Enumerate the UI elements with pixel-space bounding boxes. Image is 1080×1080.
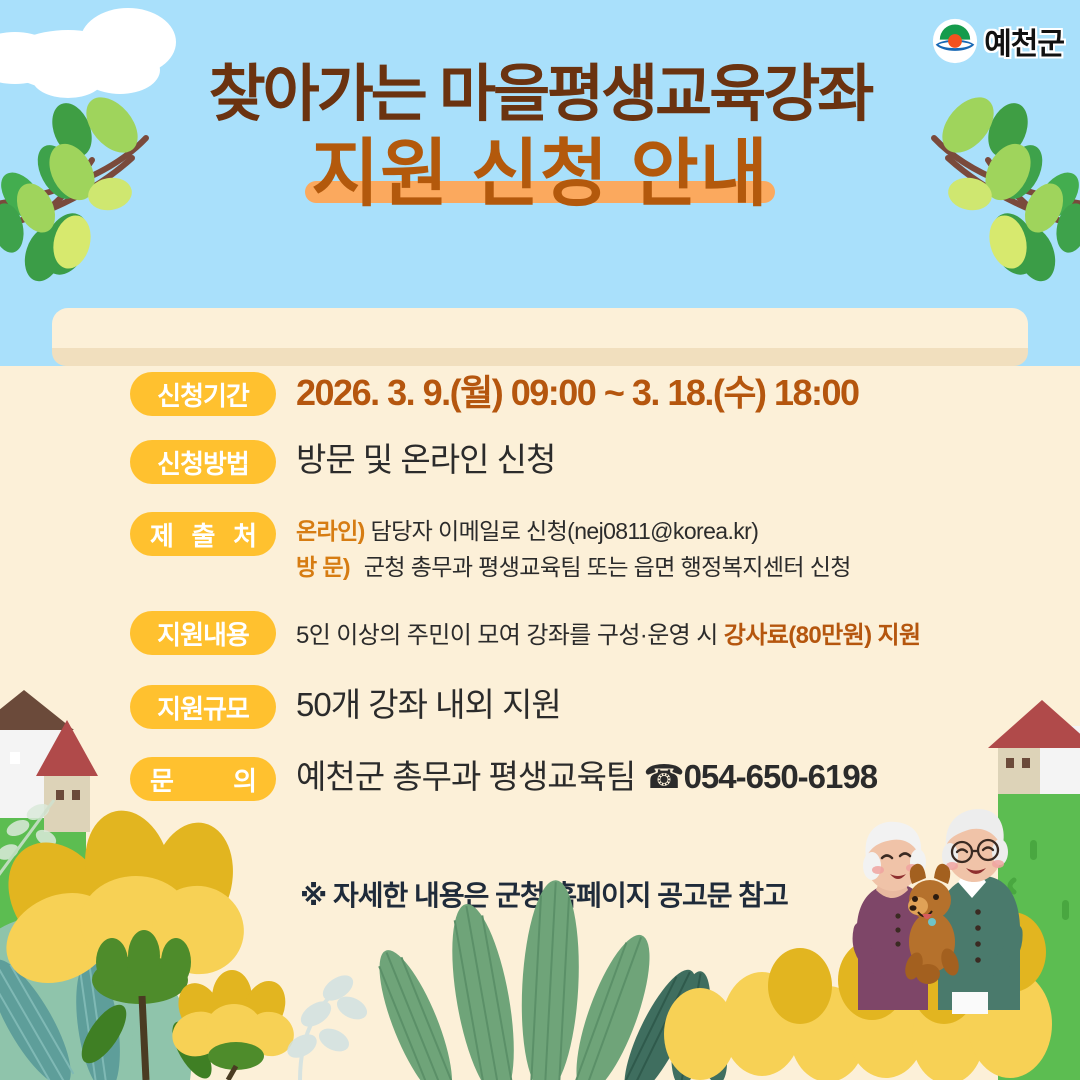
contact-phone-number: 054-650-6198 (684, 758, 878, 795)
title-line-1: 찾아가는 마을평생교육강좌 (0, 62, 1080, 127)
row-value-support-details: 5인 이상의 주민이 모여 강좌를 구성·운영 시 강사료(80만원) 지원 (296, 617, 1080, 654)
content-panel-top (52, 308, 1028, 348)
submission-online-prefix: 온라인) (296, 514, 365, 550)
submission-visit-text: 군청 총무과 평생교육팀 또는 읍면 행정복지센터 신청 (364, 554, 851, 580)
poster-root: 예천군 찾아가는 마을평생교육강좌 지원 신청 안내 신청기간 2026. 3.… (0, 0, 1080, 1080)
row-value-support-scale: 50개 강좌 내외 지원 (296, 685, 1080, 725)
label-char-2: 의 (233, 761, 256, 798)
poster-title-block: 찾아가는 마을평생교육강좌 지원 신청 안내 (0, 62, 1080, 211)
row-label-support-details: 지원내용 (130, 611, 276, 655)
row-label-submission-place: 제 출 처 (130, 512, 276, 556)
submission-visit-prefix: 방 문) (296, 550, 358, 586)
yecheon-county-emblem-icon (932, 18, 978, 64)
row-value-submission-visit: 방 문) 군청 총무과 평생교육팀 또는 읍면 행정복지센터 신청 (296, 550, 1080, 586)
submission-online-text: 담당자 이메일로 신청(nej0811@korea.kr) (371, 518, 759, 544)
row-value-contact: 예천군 총무과 평생교육팀 ☎054-650-6198 (296, 757, 1080, 797)
telephone-icon: ☎ (643, 758, 683, 795)
label-char-3: 처 (233, 516, 256, 553)
label-char-1: 제 (150, 516, 173, 553)
support-details-highlight: 강사료(80만원) 지원 (724, 622, 921, 649)
label-char-2: 출 (192, 516, 215, 553)
info-row-contact: 문 의 예천군 총무과 평생교육팀 ☎054-650-6198 (130, 755, 1080, 801)
info-row-submission-place: 제 출 처 온라인) 담당자 이메일로 신청(nej0811@korea.kr)… (130, 510, 1080, 585)
county-logo-text: 예천군 (984, 19, 1064, 63)
row-label-support-scale: 지원규모 (130, 685, 276, 729)
row-label-application-period: 신청기간 (130, 372, 276, 416)
info-rows: 신청기간 2026. 3. 9.(월) 09:00 ~ 3. 18.(수) 18… (0, 370, 1080, 823)
row-value-application-method: 방문 및 온라인 신청 (296, 440, 1080, 480)
title-line-2: 지원 신청 안내 (311, 137, 769, 211)
info-row-application-period: 신청기간 2026. 3. 9.(월) 09:00 ~ 3. 18.(수) 18… (130, 370, 1080, 416)
row-label-contact: 문 의 (130, 757, 276, 801)
info-row-support-scale: 지원규모 50개 강좌 내외 지원 (130, 683, 1080, 729)
row-value-application-period: 2026. 3. 9.(월) 09:00 ~ 3. 18.(수) 18:00 (296, 372, 1080, 413)
info-row-support-details: 지원내용 5인 이상의 주민이 모여 강좌를 구성·운영 시 강사료(80만원)… (130, 609, 1080, 655)
row-value-submission-online: 온라인) 담당자 이메일로 신청(nej0811@korea.kr) (296, 514, 1080, 550)
footnote-text: ※ 자세한 내용은 군청 홈페이지 공고문 참고 (0, 874, 1080, 914)
content-panel-band (52, 348, 1028, 366)
county-logo: 예천군 (932, 18, 1064, 64)
row-label-application-method: 신청방법 (130, 440, 276, 484)
info-row-application-method: 신청방법 방문 및 온라인 신청 (130, 438, 1080, 484)
support-details-text: 5인 이상의 주민이 모여 강좌를 구성·운영 시 (296, 622, 724, 649)
contact-team-text: 예천군 총무과 평생교육팀 (296, 758, 643, 795)
label-char-1: 문 (150, 761, 173, 798)
